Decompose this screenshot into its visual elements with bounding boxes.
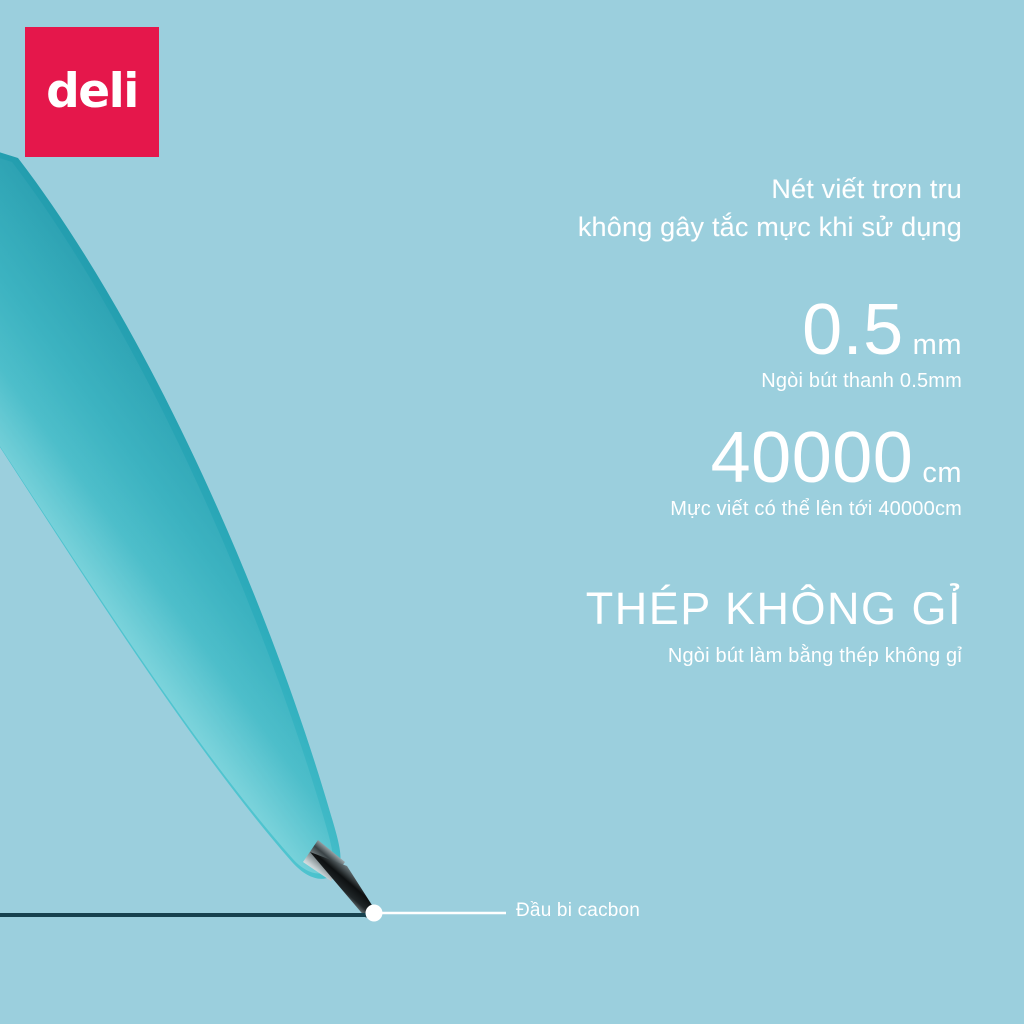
promo-banner: deli Nét viết trơn tru không gây tắc mực… xyxy=(0,0,1024,1024)
carbon-ball-dot xyxy=(366,905,383,922)
headline-line-1: Nét viết trơn tru xyxy=(771,174,962,204)
spec-ink-length: 40000cm Mực viết có thể lên tới 40000cm xyxy=(670,424,962,521)
callout-label: Đầu bi cacbon xyxy=(516,900,640,922)
headline-line-2: không gây tắc mực khi sử dụng xyxy=(578,208,962,246)
spec-ink-length-value: 40000 xyxy=(711,424,914,492)
spec-tip-size-value: 0.5 xyxy=(802,296,904,364)
pen-metal-collar xyxy=(303,840,345,881)
spec-ink-length-caption: Mực viết có thể lên tới 40000cm xyxy=(670,498,962,521)
brand-logo-text: deli xyxy=(46,68,138,115)
brand-logo: deli xyxy=(25,27,159,157)
spec-tip-size-unit: mm xyxy=(913,329,962,362)
spec-tip-size: 0.5mm Ngòi bút thanh 0.5mm xyxy=(761,296,962,393)
spec-material-value: THÉP KHÔNG GỈ xyxy=(586,588,962,631)
spec-tip-size-caption: Ngòi bút thanh 0.5mm xyxy=(761,370,962,393)
spec-material: THÉP KHÔNG GỈ Ngòi bút làm bằng thép khô… xyxy=(586,588,962,668)
headline: Nét viết trơn tru không gây tắc mực khi … xyxy=(578,170,962,247)
pen-body xyxy=(0,105,341,879)
spec-material-caption: Ngòi bút làm bằng thép không gỉ xyxy=(586,645,962,668)
spec-ink-length-unit: cm xyxy=(922,457,962,490)
pen-steel-tip xyxy=(310,852,377,918)
